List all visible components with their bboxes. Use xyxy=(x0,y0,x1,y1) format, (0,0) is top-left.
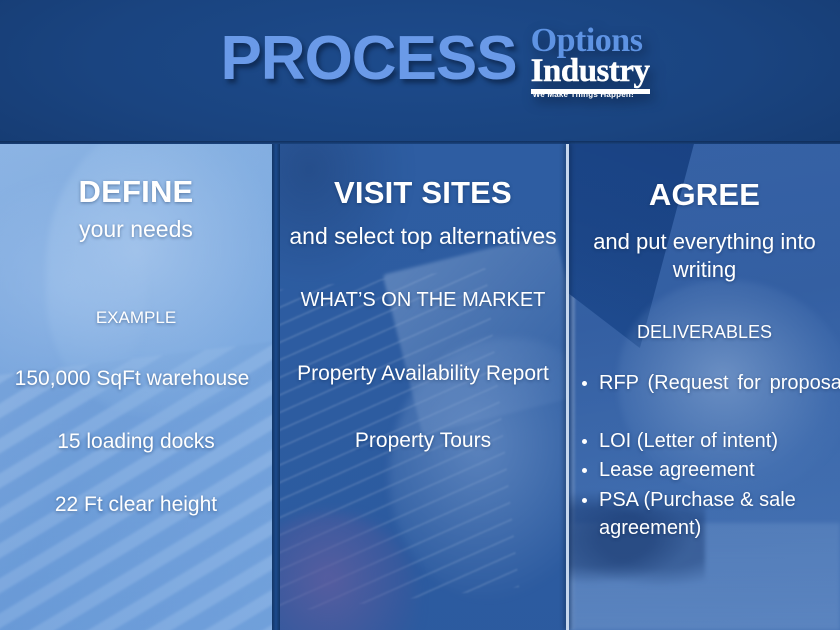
banner-inner: PROCESS Options Industry We Make Things … xyxy=(0,26,840,94)
page-title: PROCESS xyxy=(220,30,516,89)
list-item-text: RFP (Request for proposal) xyxy=(599,372,840,394)
column-agree-label-deliverables: DELIVERABLES xyxy=(569,321,840,344)
column-agree: AGREE and put everything into writing DE… xyxy=(569,144,840,630)
list-item: 150,000 SqFt warehouse xyxy=(0,366,272,391)
column-divider-dark xyxy=(272,144,280,630)
list-item-text: LOI (Letter of intent) xyxy=(599,430,778,452)
column-define-heading: DEFINE xyxy=(0,176,272,209)
column-visit-sites-content: VISIT SITES and select top alternatives … xyxy=(280,144,566,630)
column-visit-sites-heading: VISIT SITES xyxy=(288,177,558,210)
list-item: 15 loading docks xyxy=(0,429,272,454)
logo-word-industry: Industry xyxy=(531,55,650,88)
list-item-text: PSA (Purchase & sale agreement) xyxy=(599,489,796,539)
column-visit-sites: VISIT SITES and select top alternatives … xyxy=(280,144,566,630)
deliverables-bullet-list: RFP (Request for proposal) LOI (Letter o… xyxy=(569,369,840,543)
column-define-label-example: EXAMPLE xyxy=(0,307,272,328)
column-visit-sites-subheading: and select top alternatives xyxy=(288,222,558,250)
list-item: Lease agreement xyxy=(575,456,840,484)
logo-industry-wrap: Industry We Make Things Happen! xyxy=(531,55,650,94)
process-columns: DEFINE your needs EXAMPLE 150,000 SqFt w… xyxy=(0,144,840,630)
list-item: RFP (Request for proposal) xyxy=(575,369,840,426)
column-agree-content: AGREE and put everything into writing DE… xyxy=(569,144,840,630)
list-item: Property Tours xyxy=(288,428,558,453)
column-define-subheading: your needs xyxy=(0,215,272,243)
list-item-text: Lease agreement xyxy=(599,459,755,481)
list-item: PSA (Purchase & sale agreement) xyxy=(575,486,840,543)
options-industry-logo: Options Industry We Make Things Happen! xyxy=(531,24,650,94)
header-banner: PROCESS Options Industry We Make Things … xyxy=(0,0,840,144)
column-define: DEFINE your needs EXAMPLE 150,000 SqFt w… xyxy=(0,144,272,630)
logo-tagline: We Make Things Happen! xyxy=(533,90,634,99)
list-item: Property Availability Report xyxy=(288,360,558,388)
column-define-content: DEFINE your needs EXAMPLE 150,000 SqFt w… xyxy=(0,144,272,630)
column-divider-light xyxy=(566,144,569,630)
column-agree-subheading: and put everything into writing xyxy=(569,228,840,285)
process-slide: PROCESS Options Industry We Make Things … xyxy=(0,0,840,630)
list-item: 22 Ft clear height xyxy=(0,492,272,517)
column-agree-heading: AGREE xyxy=(569,179,840,212)
list-item: LOI (Letter of intent) xyxy=(575,427,840,455)
column-visit-sites-label-market: WHAT’S ON THE MARKET xyxy=(288,287,558,314)
